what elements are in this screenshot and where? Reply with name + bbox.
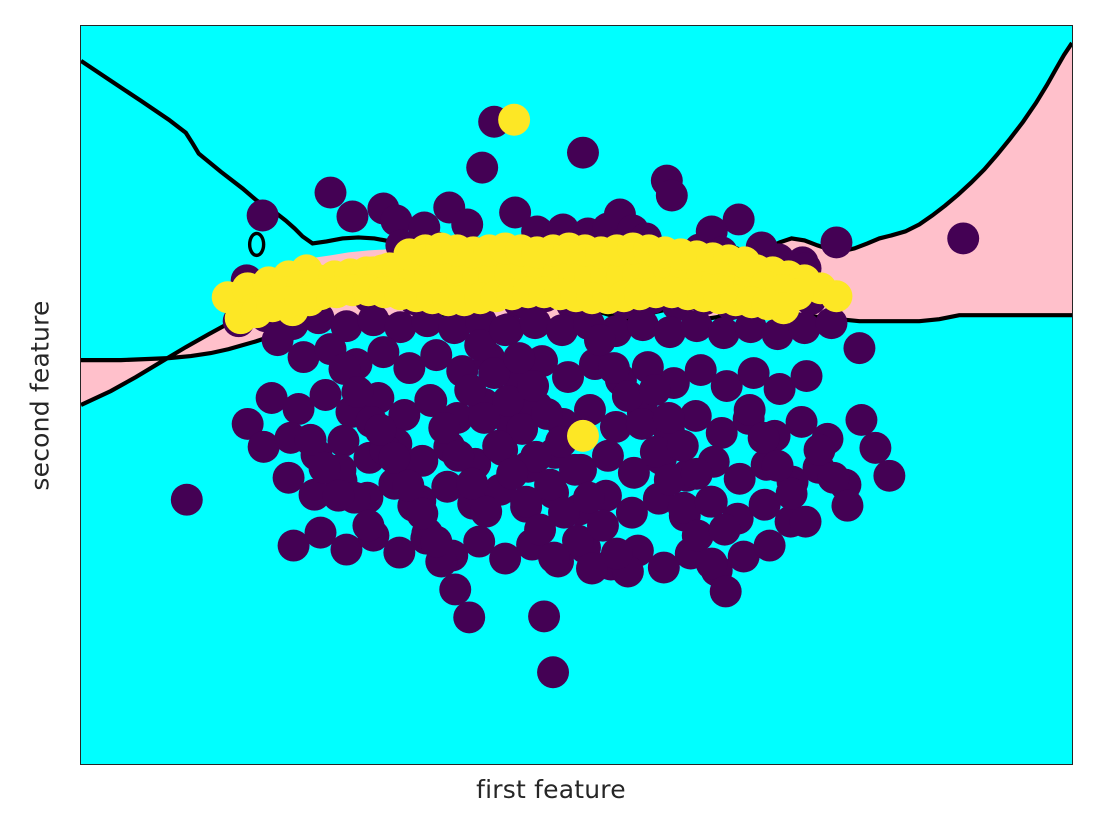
data-point — [859, 432, 891, 464]
data-point — [627, 309, 659, 341]
data-point — [695, 486, 727, 518]
data-point — [821, 226, 853, 258]
data-point — [587, 510, 619, 542]
data-point — [708, 317, 740, 349]
data-point — [503, 342, 535, 374]
data-point — [654, 464, 686, 496]
data-point — [336, 201, 368, 233]
data-point — [843, 332, 875, 364]
data-point — [640, 436, 672, 468]
data-point — [601, 538, 633, 570]
data-point — [283, 393, 315, 425]
data-point — [639, 374, 671, 406]
data-point — [559, 454, 591, 486]
data-point — [616, 497, 648, 529]
data-point — [357, 304, 389, 336]
data-point — [295, 424, 327, 456]
data-point — [567, 420, 599, 452]
data-point — [706, 417, 738, 449]
data-point — [468, 402, 500, 434]
data-point — [696, 548, 728, 580]
data-point — [439, 574, 471, 606]
data-point — [454, 374, 486, 406]
data-point — [489, 314, 521, 346]
data-point — [510, 486, 542, 518]
data-point — [247, 200, 279, 232]
data-point — [442, 440, 474, 472]
data-point — [309, 452, 341, 484]
data-point — [420, 526, 452, 558]
data-point — [612, 380, 644, 412]
data-point — [456, 468, 488, 500]
data-point — [681, 310, 713, 342]
data-point — [482, 430, 514, 462]
data-point — [668, 492, 700, 524]
data-point — [734, 394, 766, 426]
data-point — [496, 458, 528, 490]
data-point — [428, 412, 460, 444]
data-point — [816, 307, 848, 339]
data-point — [729, 246, 761, 278]
data-point — [667, 430, 699, 462]
data-point — [584, 324, 616, 356]
plot-axes — [80, 25, 1073, 765]
data-point — [528, 600, 560, 632]
data-point — [768, 292, 800, 324]
data-point — [498, 104, 530, 136]
data-point — [341, 376, 373, 408]
data-point — [831, 490, 863, 522]
data-point — [470, 496, 502, 528]
data-point — [845, 404, 877, 436]
data-point — [656, 180, 688, 212]
data-point — [776, 478, 808, 510]
data-point — [653, 402, 685, 434]
y-axis-label: second feature — [26, 300, 55, 490]
data-point — [466, 152, 498, 184]
data-point — [724, 463, 756, 495]
data-point — [947, 222, 979, 254]
scatter-series-0 — [171, 106, 979, 688]
matplotlib-figure: second feature first feature — [0, 0, 1102, 830]
y-axis-label-container: second feature — [0, 0, 80, 790]
data-point — [531, 398, 563, 430]
data-point — [762, 450, 794, 482]
data-point — [791, 360, 823, 392]
data-point — [748, 422, 780, 454]
data-point — [323, 480, 355, 512]
data-point — [754, 530, 786, 562]
data-point — [378, 442, 410, 474]
data-point — [414, 384, 446, 416]
data-point — [546, 314, 578, 346]
data-point — [330, 534, 362, 566]
data-point — [392, 470, 424, 502]
data-point — [285, 284, 317, 316]
data-point — [288, 341, 320, 373]
data-point — [517, 370, 549, 402]
data-point — [538, 542, 570, 574]
data-point — [364, 414, 396, 446]
x-axis-label: first feature — [0, 775, 1102, 804]
data-point — [573, 482, 605, 514]
data-point — [821, 280, 853, 312]
data-point — [171, 484, 203, 516]
data-point — [524, 514, 556, 546]
data-point — [406, 498, 438, 530]
data-point — [519, 307, 551, 339]
data-point — [537, 656, 569, 688]
scatter-layer — [81, 26, 1072, 764]
data-point — [383, 537, 415, 569]
data-point — [818, 462, 850, 494]
data-point — [873, 460, 905, 492]
data-point — [567, 137, 599, 169]
data-point — [709, 514, 741, 546]
data-point — [648, 552, 680, 584]
data-point — [710, 576, 742, 608]
data-point — [682, 520, 714, 552]
data-point — [453, 601, 485, 633]
data-point — [315, 177, 347, 209]
data-point — [804, 434, 836, 466]
data-point — [352, 510, 384, 542]
data-point — [626, 408, 658, 440]
data-point — [598, 352, 630, 384]
data-point — [489, 543, 521, 575]
data-point — [681, 458, 713, 490]
data-point — [654, 316, 686, 348]
data-point — [790, 506, 822, 538]
